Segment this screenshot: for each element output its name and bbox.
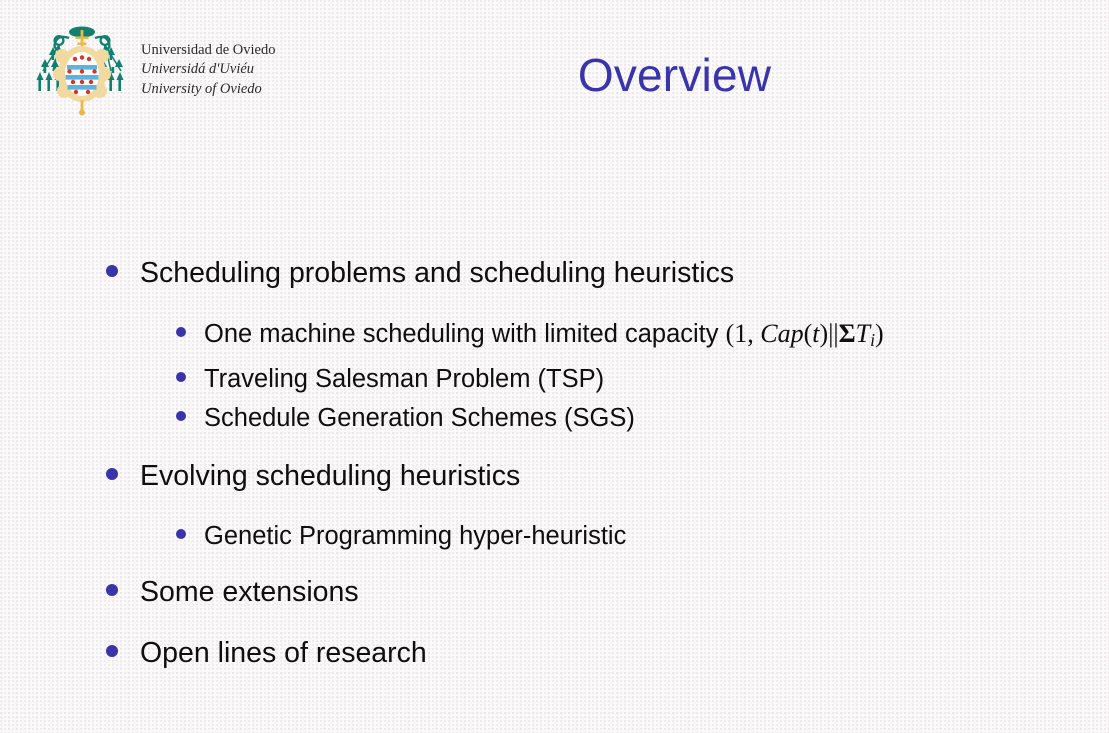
math-double-bar: || bbox=[828, 319, 838, 348]
math-cap-close-paren: ) bbox=[820, 319, 829, 348]
group-spacer bbox=[0, 439, 1109, 455]
slide-title: Overview bbox=[0, 48, 1109, 102]
outline-item-label: Open lines of research bbox=[140, 632, 427, 675]
outline-item-label: Scheduling problems and scheduling heuri… bbox=[140, 252, 734, 295]
outline-item-label: Genetic Programming hyper-heuristic bbox=[204, 518, 626, 555]
math-machine-count: 1 bbox=[734, 319, 747, 348]
bullet-dot-icon bbox=[176, 327, 186, 337]
math-sigma-symbol: Σ bbox=[839, 319, 856, 348]
math-expression-capacity-tardiness: (1, Cap(t)||ΣTi) bbox=[726, 319, 884, 348]
outline-list: Scheduling problems and scheduling heuri… bbox=[0, 252, 1109, 679]
group-spacer bbox=[0, 299, 1109, 315]
bullet-dot-icon bbox=[176, 529, 186, 539]
outline-item-scheduling-problems: Scheduling problems and scheduling heuri… bbox=[0, 252, 1109, 295]
outline-item-schedule-generation-schemes: Schedule Generation Schemes (SGS) bbox=[0, 400, 1109, 437]
bullet-dot-icon bbox=[106, 584, 118, 596]
outline-item-label: Traveling Salesman Problem (TSP) bbox=[204, 361, 604, 398]
outline-item-label: Some extensions bbox=[140, 571, 359, 614]
group-spacer bbox=[0, 557, 1109, 571]
outline-item-label: One machine scheduling with limited capa… bbox=[204, 315, 884, 359]
bullet-dot-icon bbox=[106, 468, 118, 480]
outline-item-genetic-programming: Genetic Programming hyper-heuristic bbox=[0, 518, 1109, 555]
math-cap-function: Cap bbox=[760, 319, 803, 348]
outline-item-label: Evolving scheduling heuristics bbox=[140, 455, 520, 498]
outline-item-some-extensions: Some extensions bbox=[0, 571, 1109, 614]
group-spacer bbox=[0, 502, 1109, 518]
math-close-paren: ) bbox=[875, 319, 884, 348]
outline-item-text: One machine scheduling with limited capa… bbox=[204, 320, 726, 348]
math-open-paren: ( bbox=[726, 319, 735, 348]
group-spacer bbox=[0, 618, 1109, 632]
bullet-dot-icon bbox=[176, 411, 186, 421]
math-cap-open-paren: ( bbox=[804, 319, 813, 348]
bullet-dot-icon bbox=[106, 645, 118, 657]
presentation-slide: Universidad de Oviedo Universidá d'Uviéu… bbox=[0, 0, 1109, 733]
outline-item-open-lines-of-research: Open lines of research bbox=[0, 632, 1109, 675]
math-comma: , bbox=[747, 319, 760, 348]
bullet-dot-icon bbox=[106, 265, 118, 277]
outline-item-traveling-salesman: Traveling Salesman Problem (TSP) bbox=[0, 361, 1109, 398]
outline-item-evolving-heuristics: Evolving scheduling heuristics bbox=[0, 455, 1109, 498]
bullet-dot-icon bbox=[176, 372, 186, 382]
math-tardiness-symbol: T bbox=[856, 319, 870, 348]
outline-item-one-machine-scheduling: One machine scheduling with limited capa… bbox=[0, 315, 1109, 359]
outline-item-label: Schedule Generation Schemes (SGS) bbox=[204, 400, 635, 437]
math-cap-argument: t bbox=[812, 319, 819, 348]
